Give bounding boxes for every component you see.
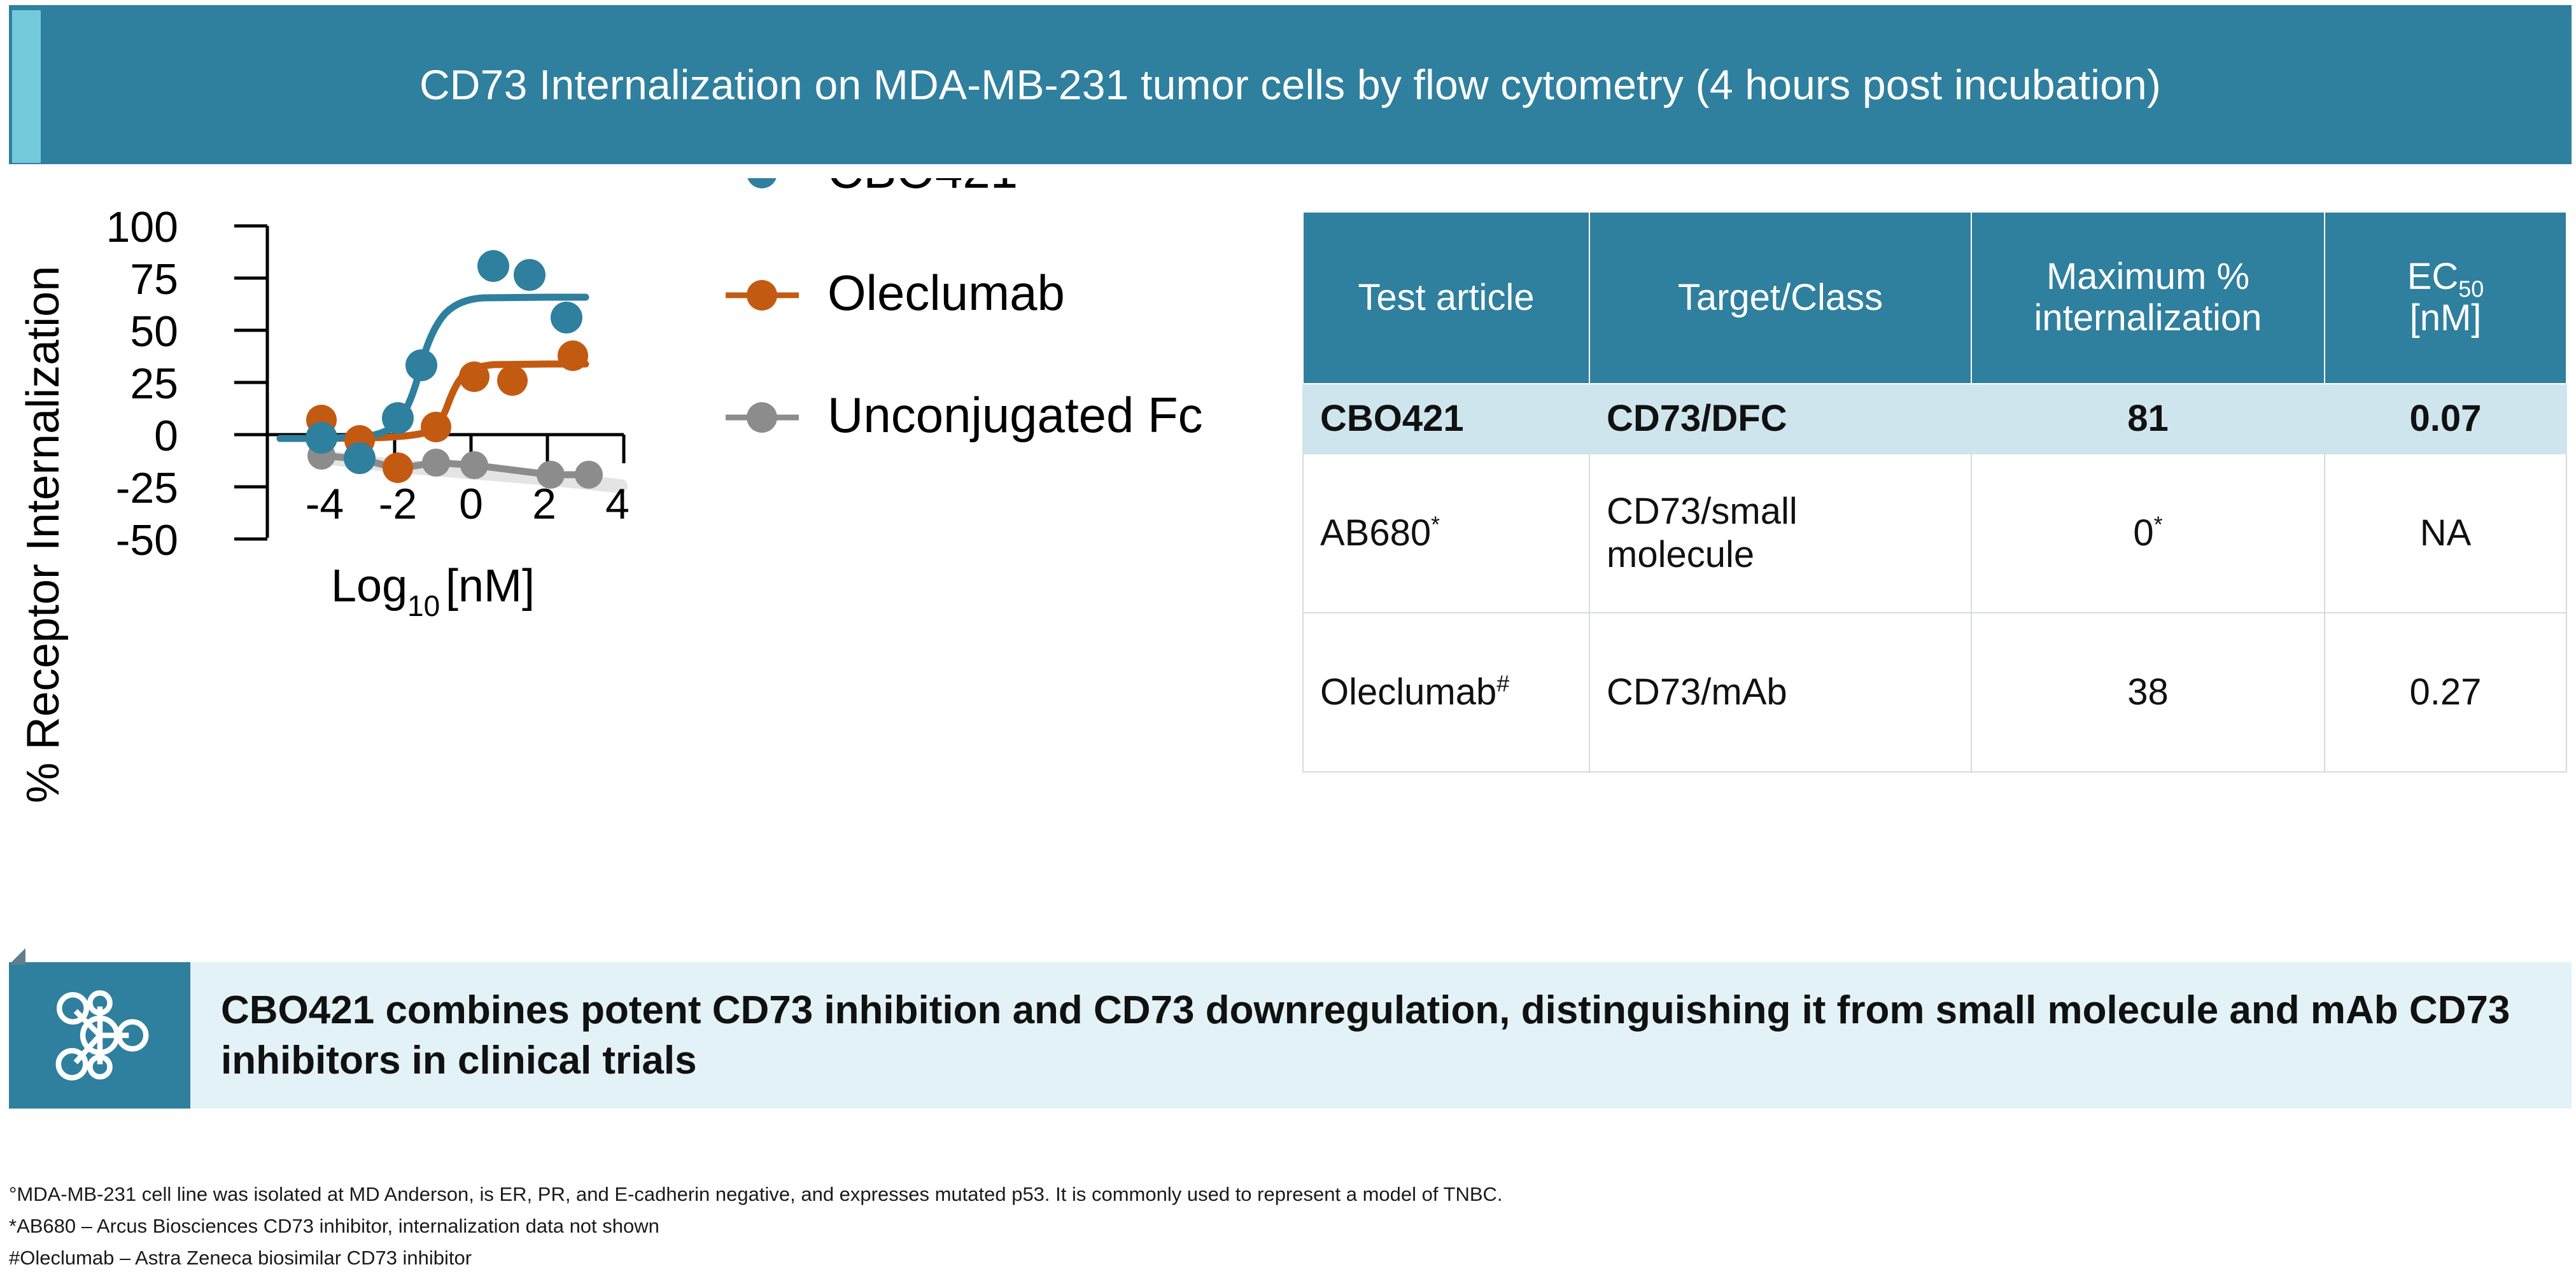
footnote-item: °MDA-MB-231 cell line was isolated at MD… bbox=[9, 1179, 2173, 1210]
data-point bbox=[422, 449, 450, 477]
legend-item-oleclumab[interactable]: Oleclumab bbox=[726, 265, 1065, 321]
cell-target-class: CD73/mAb bbox=[1589, 613, 1971, 772]
column-header-max-internalization: Maximum % internalization bbox=[1971, 212, 2325, 384]
table-row: AB680* CD73/small molecule 0* NA bbox=[1303, 454, 2566, 613]
x-axis-label: Log 10 [nM] bbox=[331, 561, 535, 622]
x-tick-label: -4 bbox=[306, 480, 344, 528]
header-line-2: internalization bbox=[2034, 297, 2262, 339]
cell-ec50: 0.07 bbox=[2325, 384, 2566, 454]
header-ec-units: [nM] bbox=[2410, 297, 2482, 339]
y-tick-label: 0 bbox=[154, 412, 178, 460]
cell-max-internalization: 38 bbox=[1971, 613, 2325, 772]
data-point bbox=[497, 365, 528, 396]
table-header-row: Test article Target/Class Maximum % inte… bbox=[1303, 212, 2566, 384]
cell-max-internalization: 0* bbox=[1971, 454, 2325, 613]
molecule-network-icon bbox=[46, 981, 154, 1089]
axis-lines bbox=[234, 226, 624, 539]
cell-test-article: CBO421 bbox=[1303, 384, 1589, 454]
data-point bbox=[551, 302, 582, 333]
cell-text: 38 bbox=[2127, 671, 2169, 713]
x-axis-label-base: Log bbox=[331, 561, 407, 612]
data-point bbox=[421, 412, 451, 442]
cell-target-class: CD73/DFC bbox=[1589, 384, 1971, 454]
results-table: Test article Target/Class Maximum % inte… bbox=[1302, 211, 2567, 773]
y-tick-label: 100 bbox=[106, 203, 178, 251]
data-point bbox=[306, 422, 337, 454]
legend-label: Unconjugated Fc bbox=[827, 387, 1203, 443]
y-tick-labels: 100 75 50 25 0 -25 -50 bbox=[106, 203, 178, 564]
y-axis-label: % Receptor Internalization bbox=[18, 266, 69, 803]
cell-test-article: AB680* bbox=[1303, 454, 1589, 613]
page-title: CD73 Internalization on MDA-MB-231 tumor… bbox=[419, 60, 2161, 109]
callout-message: CBO421 combines potent CD73 inhibition a… bbox=[190, 985, 2572, 1086]
cell-superscript: * bbox=[1431, 512, 1440, 538]
legend-swatch-marker bbox=[747, 178, 777, 188]
cell-ec50: NA bbox=[2325, 454, 2566, 613]
legend-item-cbo421[interactable]: CBO421 bbox=[726, 178, 1018, 199]
data-point bbox=[575, 461, 603, 489]
data-point bbox=[382, 402, 414, 434]
x-tick-label: 0 bbox=[459, 480, 483, 528]
data-point bbox=[459, 361, 489, 392]
table-row: Oleclumab# CD73/mAb 38 0.27 bbox=[1303, 613, 2566, 772]
data-point bbox=[460, 451, 488, 479]
y-tick-label: -25 bbox=[116, 464, 178, 512]
y-tick-label: 25 bbox=[130, 360, 178, 408]
cell-text: Oleclumab bbox=[1320, 671, 1496, 713]
slide-title-bar: CD73 Internalization on MDA-MB-231 tumor… bbox=[9, 5, 2572, 164]
data-point bbox=[405, 349, 437, 381]
data-point bbox=[477, 250, 509, 282]
y-tick-label: 50 bbox=[130, 307, 178, 356]
x-tick-label: 2 bbox=[532, 480, 556, 528]
cell-text: CBO421 bbox=[1320, 398, 1464, 439]
chart-svg: % Receptor Internalization 100 75 50 25 … bbox=[0, 178, 1273, 904]
header-line-1: Maximum % bbox=[2046, 256, 2249, 297]
column-header-test-article: Test article bbox=[1303, 212, 1589, 384]
header-ec-base: EC bbox=[2407, 256, 2459, 297]
data-point bbox=[383, 452, 413, 483]
cell-superscript: * bbox=[2154, 512, 2163, 538]
footnote-item: *AB680 – Arcus Biosciences CD73 inhibito… bbox=[9, 1210, 2173, 1242]
callout-icon-container bbox=[9, 962, 190, 1109]
x-tick-label: 4 bbox=[605, 480, 630, 528]
footnotes: °MDA-MB-231 cell line was isolated at MD… bbox=[9, 1179, 2173, 1275]
y-tick-label: 75 bbox=[130, 255, 178, 304]
cell-max-internalization: 81 bbox=[1971, 384, 2325, 454]
legend-item-unconjugated-fc[interactable]: Unconjugated Fc bbox=[726, 387, 1203, 443]
chart-legend: CBO421 Oleclumab Unconjugated Fc bbox=[726, 178, 1203, 443]
legend-label: Oleclumab bbox=[827, 265, 1065, 321]
column-header-ec50: EC50 [nM] bbox=[2325, 212, 2566, 384]
cell-ec50: 0.27 bbox=[2325, 613, 2566, 772]
cell-text: AB680 bbox=[1320, 512, 1431, 554]
x-tick-label: -2 bbox=[379, 480, 417, 528]
cell-superscript: # bbox=[1496, 671, 1509, 697]
table-row: CBO421 CD73/DFC 81 0.07 bbox=[1303, 384, 2566, 454]
x-axis-label-subscript: 10 bbox=[407, 589, 440, 622]
legend-label: CBO421 bbox=[827, 178, 1018, 199]
key-message-callout: CBO421 combines potent CD73 inhibition a… bbox=[9, 962, 2572, 1109]
y-tick-label: -50 bbox=[116, 516, 178, 564]
data-point bbox=[558, 340, 588, 371]
cell-target-class: CD73/small molecule bbox=[1589, 454, 1971, 613]
data-point bbox=[344, 442, 376, 474]
column-header-target-class: Target/Class bbox=[1589, 212, 1971, 384]
x-axis-label-unit: [nM] bbox=[446, 561, 535, 612]
title-accent-stripe bbox=[12, 10, 41, 163]
footnote-item: #Oleclumab – Astra Zeneca biosimilar CD7… bbox=[9, 1242, 2173, 1274]
legend-swatch-marker bbox=[747, 280, 777, 311]
internalization-chart: % Receptor Internalization 100 75 50 25 … bbox=[0, 178, 1273, 904]
cell-test-article: Oleclumab# bbox=[1303, 613, 1589, 772]
cell-text: 0 bbox=[2133, 512, 2153, 554]
callout-corner-tab bbox=[9, 948, 25, 965]
legend-swatch-marker bbox=[747, 402, 777, 433]
cell-text: 81 bbox=[2127, 398, 2169, 439]
data-point bbox=[514, 259, 545, 291]
